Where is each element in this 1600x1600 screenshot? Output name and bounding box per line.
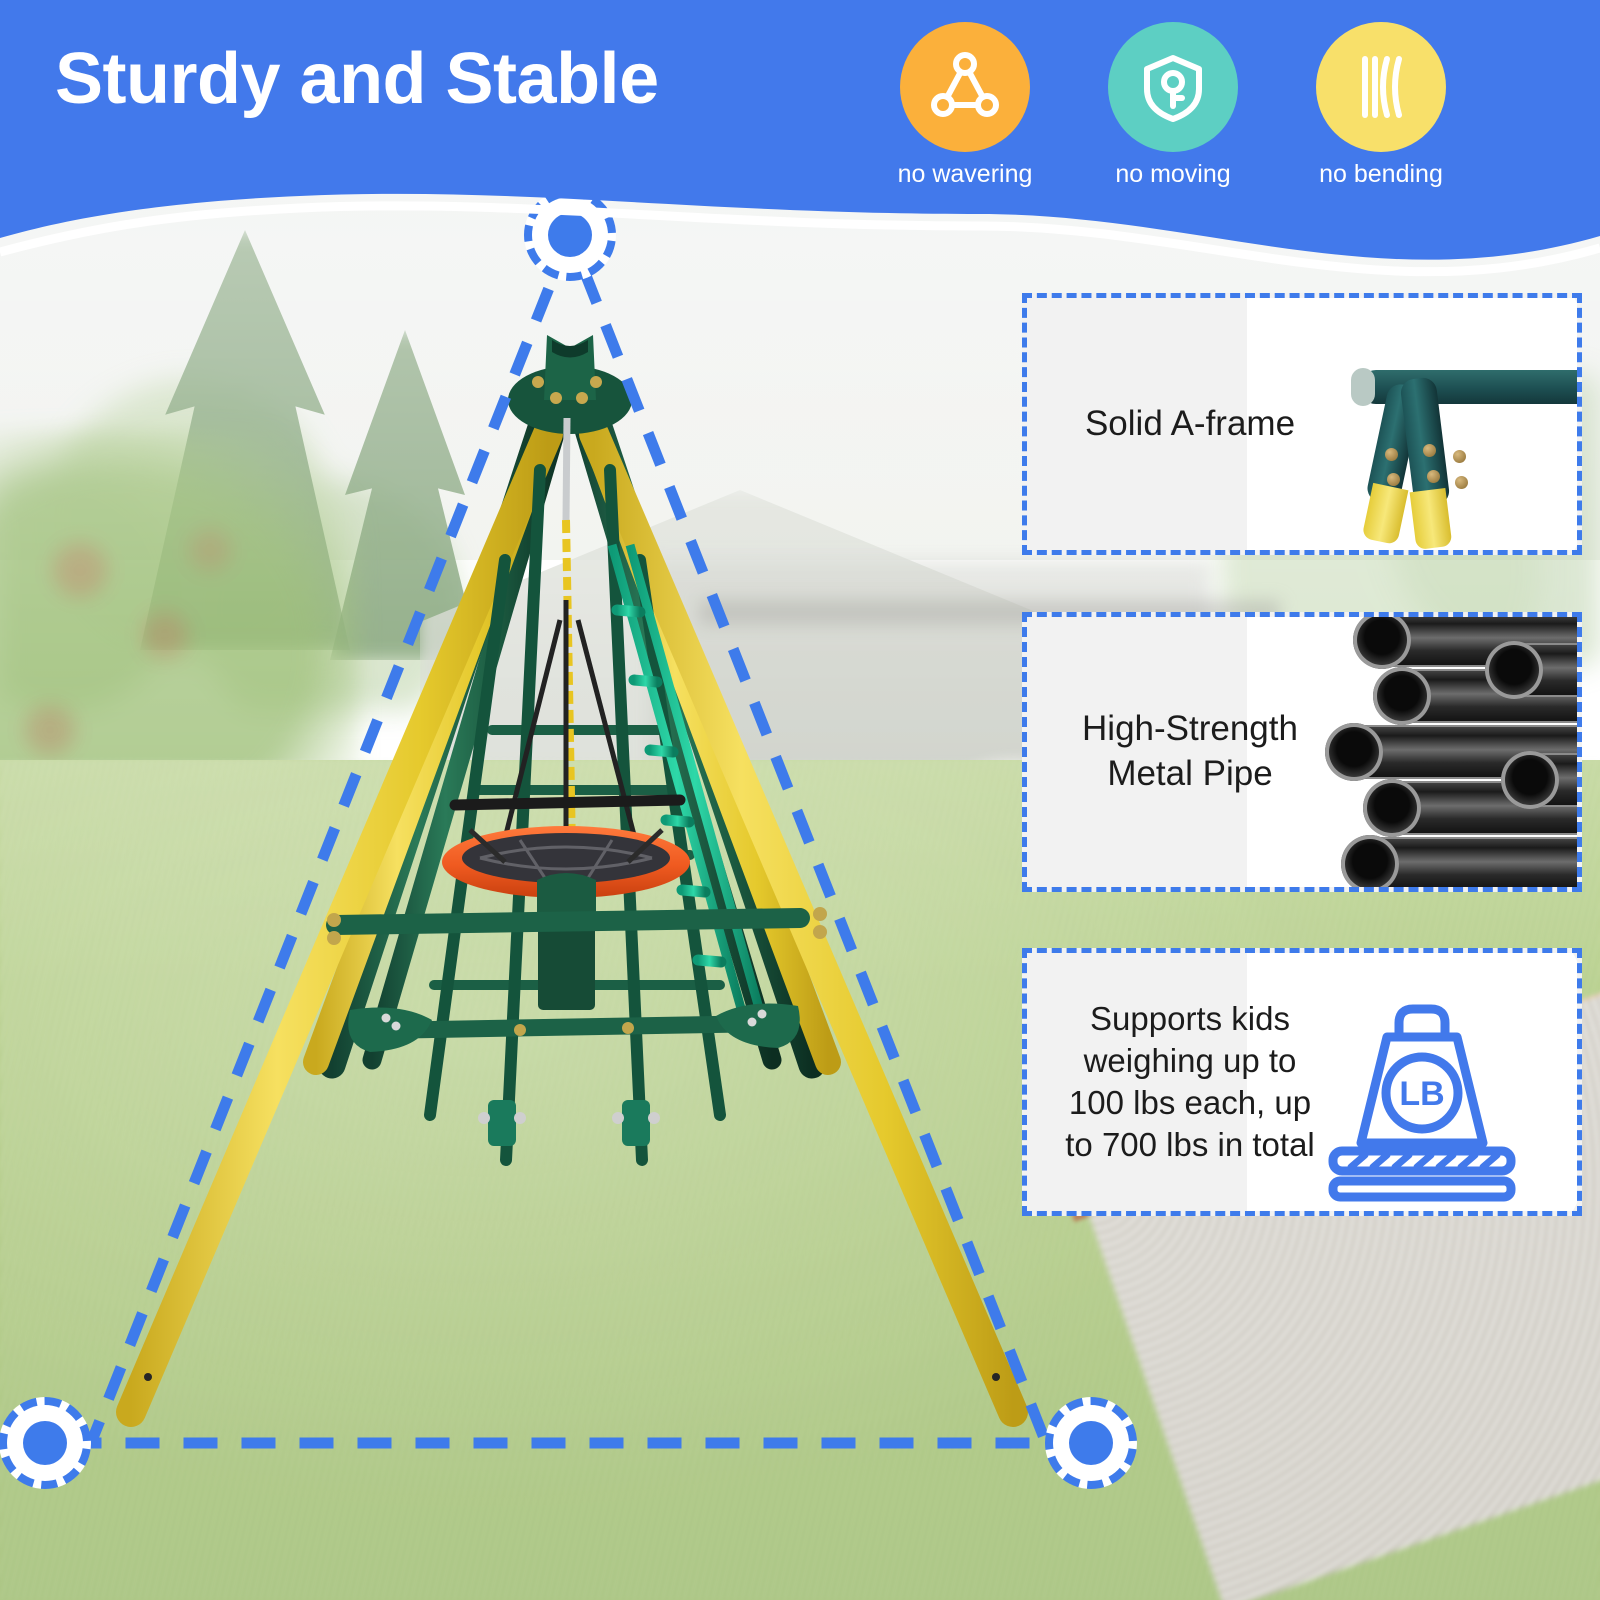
yellow-leg-sleeve bbox=[1410, 488, 1453, 550]
bottom-left-node bbox=[0, 1397, 91, 1489]
weight-capacity-label: Supports kids weighing up to 100 lbs eac… bbox=[1027, 998, 1327, 1167]
lb-icon-label: LB bbox=[1399, 1075, 1444, 1113]
glider-seat bbox=[537, 873, 596, 1010]
bolt-icon bbox=[1423, 444, 1436, 457]
solid-a-frame-label: Solid A-frame bbox=[1027, 402, 1327, 447]
lb-weight-icon: LB bbox=[1307, 989, 1537, 1204]
metal-pipe-label: High-Strength Metal Pipe bbox=[1027, 707, 1327, 797]
weight-capacity-card[interactable]: Supports kids weighing up to 100 lbs eac… bbox=[1022, 948, 1582, 1216]
bolt-icon bbox=[1427, 470, 1440, 483]
bolt-icon bbox=[1455, 476, 1468, 489]
ground-anchors bbox=[478, 1100, 660, 1146]
apex-node bbox=[524, 189, 616, 281]
bolt-icon bbox=[1387, 473, 1400, 486]
bolt-icon bbox=[1453, 450, 1466, 463]
solid-a-frame-card[interactable]: Solid A-frame bbox=[1022, 293, 1582, 555]
infographic-canvas: Solid A-frame High-Strength Metal Pipe bbox=[0, 0, 1600, 1600]
tube-end-cap bbox=[1351, 368, 1375, 406]
glider-footrest-bar bbox=[348, 1004, 800, 1052]
bolt-icon bbox=[1385, 448, 1398, 461]
metal-pipe-card[interactable]: High-Strength Metal Pipe bbox=[1022, 612, 1582, 892]
bottom-right-node bbox=[1045, 1397, 1137, 1489]
